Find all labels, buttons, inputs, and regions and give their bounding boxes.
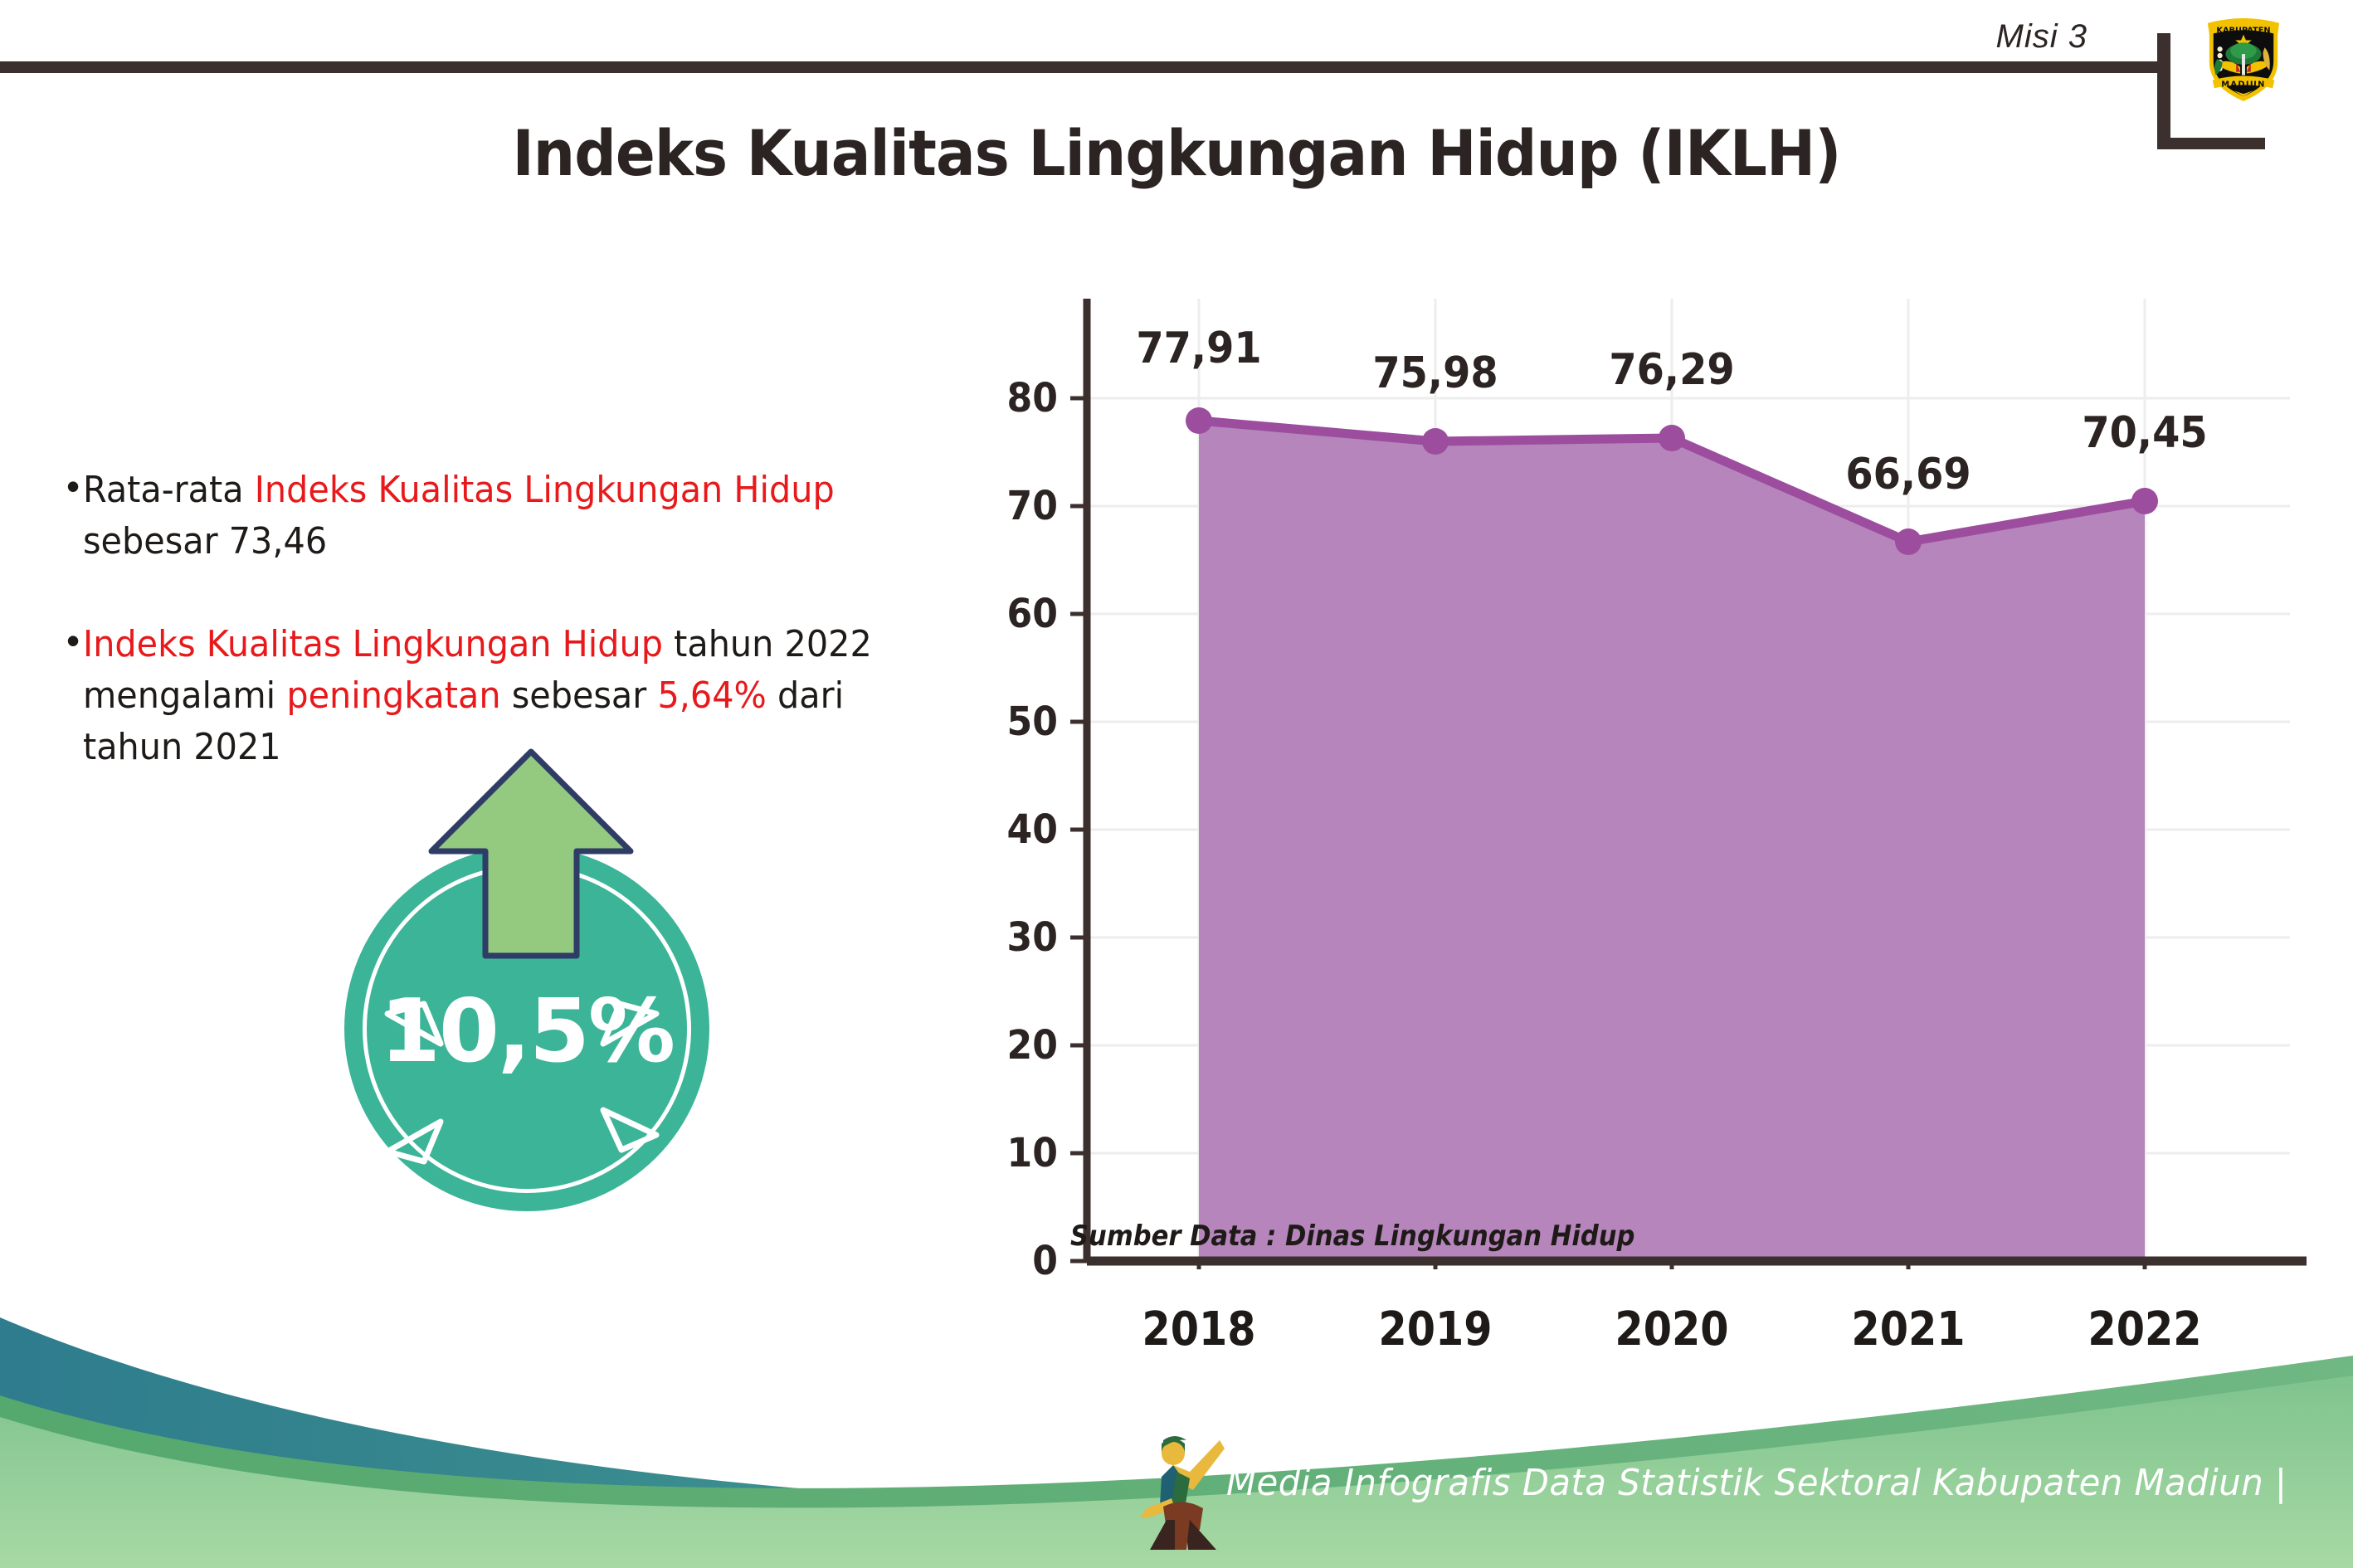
chart-y-tick-label: 80 [967,375,1058,421]
mission-label: Misi 3 [1996,18,2087,56]
chart-source-caption: Sumber Data : Dinas Lingkungan Hidup [1070,1220,1634,1253]
bullet-segment-highlight: peningkatan [286,674,500,717]
badge-value: 10,5% [344,981,709,1082]
bullet-segment: Rata-rata [83,469,255,511]
chart-y-tick-label: 10 [967,1130,1058,1176]
footer-caption: Media Infografis Data Statistik Sektoral… [1226,1462,2287,1504]
growth-badge: 10,5% [328,747,767,1211]
bullet-segment-highlight: 5,64% [658,674,767,717]
chart-y-tick-label: 40 [967,806,1058,853]
chart-y-tick-label: 0 [967,1238,1058,1284]
bullet-segment-highlight: Indeks Kualitas Lingkungan Hidup [255,469,835,511]
bullet-marker: • [66,465,80,508]
corner-triangle-icon-bottom-left [384,1112,451,1170]
chart-value-label: 76,29 [1581,345,1764,395]
chart-value-label: 70,45 [2053,408,2237,458]
chart-value-label: 75,98 [1344,348,1527,398]
bullet-segment: sebesar 73,46 [83,520,327,562]
chart-value-label: 66,69 [1817,450,2000,499]
bullet-text: Rata-rata Indeks Kualitas Lingkungan Hid… [83,465,894,567]
bullet-segment: sebesar [501,674,658,717]
chart-y-tick-label: 60 [967,591,1058,637]
dancer-figure-icon [1138,1429,1228,1551]
iklh-area-chart: 80 70 60 50 40 30 20 10 0 77,91 75,98 76… [962,274,2307,1269]
chart-y-tick-label: 70 [967,483,1058,529]
kabupaten-madiun-crest-icon: KABUPATEN MADIUN [2203,12,2284,105]
bullet-segment-highlight: Indeks Kualitas Lingkungan Hidup [83,623,663,665]
corner-triangle-icon-bottom-right [593,1103,660,1161]
svg-text:MADIUN: MADIUN [2221,80,2266,89]
bullet-marker: • [66,619,80,662]
chart-y-tick-label: 20 [967,1022,1058,1069]
list-item: • Rata-rata Indeks Kualitas Lingkungan H… [66,465,946,567]
chart-y-tick-label: 30 [967,914,1058,961]
up-arrow-icon [427,747,635,962]
header-rule [0,61,2169,73]
svg-text:KABUPATEN: KABUPATEN [2216,27,2270,36]
chart-y-tick-label: 50 [967,699,1058,745]
page-title: Indeks Kualitas Lingkungan Hidup (IKLH) [82,116,2270,190]
chart-value-label: 77,91 [1108,324,1291,373]
chart-area-fill [1199,421,2145,1261]
